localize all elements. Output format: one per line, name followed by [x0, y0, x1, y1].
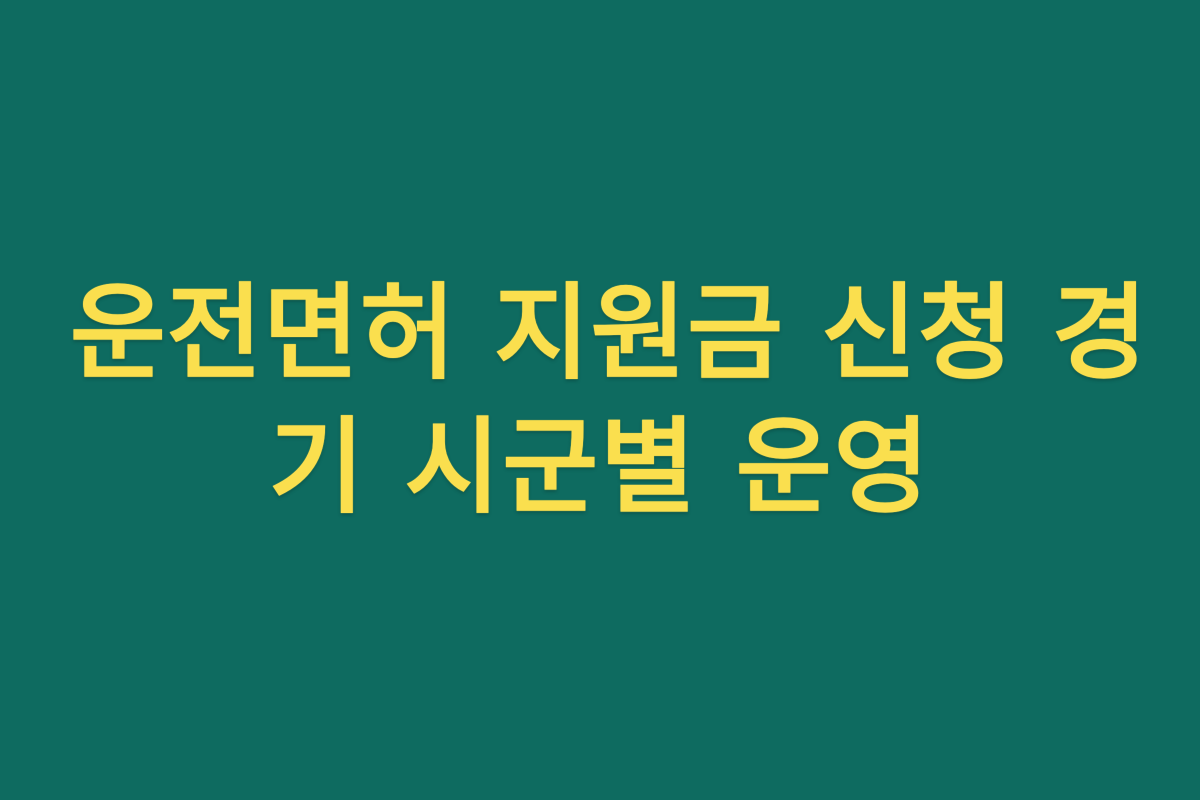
banner-title-block: 운전면허 지원금 신청 경 기 시군별 운영 — [70, 266, 1130, 534]
banner-title-line-2: 기 시군별 운영 — [70, 400, 1130, 534]
banner-canvas: 운전면허 지원금 신청 경 기 시군별 운영 — [0, 0, 1200, 800]
banner-title-line-1: 운전면허 지원금 신청 경 — [70, 266, 1130, 400]
